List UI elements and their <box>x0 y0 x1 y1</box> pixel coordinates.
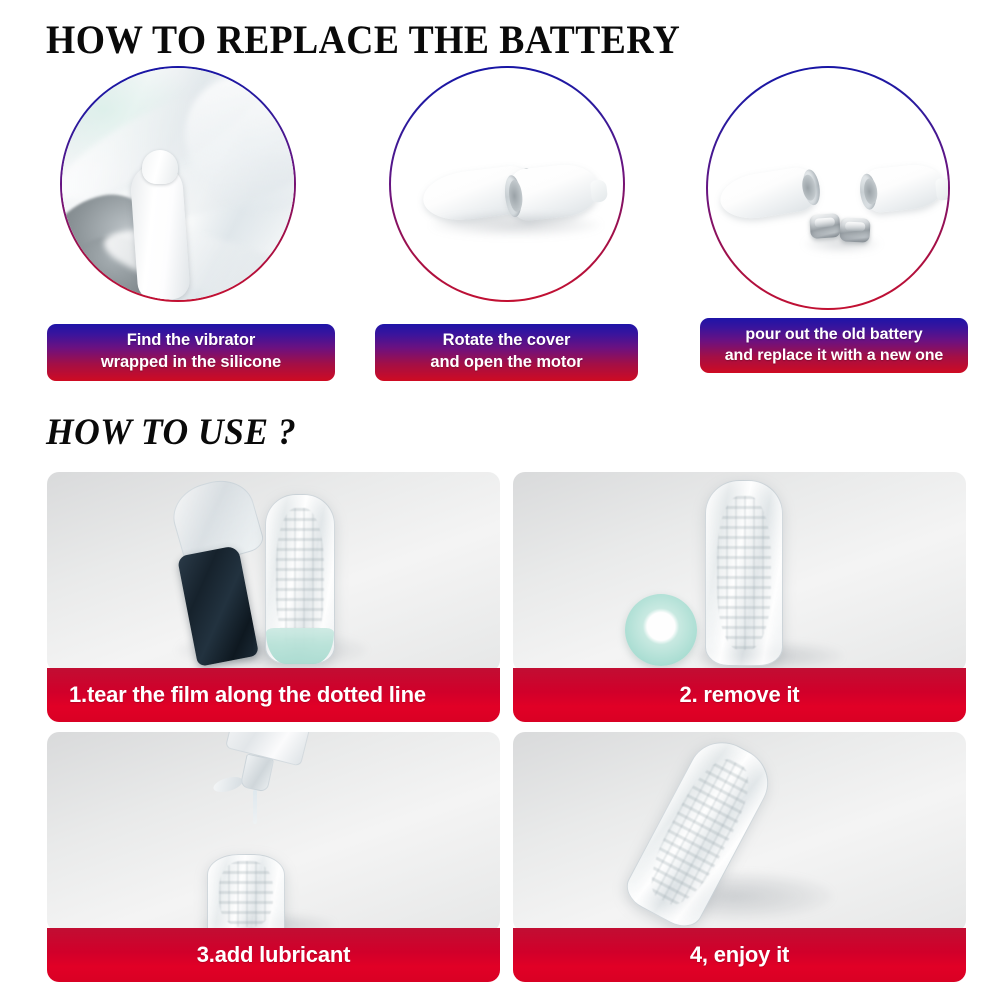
usage-step-3-caption: 3.add lubricant <box>47 928 500 982</box>
usage-step-3: 3.add lubricant <box>47 732 500 982</box>
product-shadow <box>804 236 880 252</box>
usage-section-heading: HOW TO USE ? <box>46 411 296 454</box>
infographic-page: HOW TO REPLACE THE BATTERY Find the vibr… <box>0 0 1000 1000</box>
product-shadow <box>431 214 601 236</box>
battery-step-3: pour out the old battery and replace it … <box>700 66 968 310</box>
clear-cylinder-product <box>207 854 285 932</box>
removed-mint-ring <box>625 594 697 666</box>
usage-step-1-caption: 1.tear the film along the dotted line <box>47 668 500 722</box>
battery-step-2-circle-frame <box>389 66 625 302</box>
battery-step-1-caption: Find the vibrator wrapped in the silicon… <box>47 324 335 381</box>
usage-step-4-photo <box>513 732 966 932</box>
battery-step-1: Find the vibrator wrapped in the silicon… <box>47 66 335 302</box>
usage-step-2-photo <box>513 472 966 672</box>
capsule-end-nub <box>935 177 948 201</box>
cylinder-inner-texture <box>717 496 772 651</box>
battery-step-2: Rotate the cover and open the motor <box>375 66 638 302</box>
clear-cylinder-product <box>705 480 783 666</box>
battery-step-2-caption: Rotate the cover and open the motor <box>375 324 638 381</box>
battery-step-1-circle-frame <box>60 66 296 302</box>
battery-step-2-photo <box>391 68 623 300</box>
usage-step-2: 2. remove it <box>513 472 966 722</box>
vibrator-cap <box>142 150 178 184</box>
usage-steps-grid: 1.tear the film along the dotted line 2.… <box>0 466 1000 996</box>
battery-section-heading: HOW TO REPLACE THE BATTERY <box>46 16 680 63</box>
lubricant-nozzle <box>240 753 274 792</box>
usage-step-4-caption: 4, enjoy it <box>513 928 966 982</box>
battery-step-1-photo <box>62 68 294 300</box>
usage-step-3-photo <box>47 732 500 932</box>
usage-step-1-photo <box>47 472 500 672</box>
battery-step-3-caption: pour out the old battery and replace it … <box>700 318 968 373</box>
usage-step-4: 4, enjoy it <box>513 732 966 982</box>
motor-capsule-right-half <box>860 162 946 214</box>
battery-steps-row: Find the vibrator wrapped in the silicon… <box>0 66 1000 386</box>
cylinder-inner-texture <box>219 861 274 927</box>
usage-step-1: 1.tear the film along the dotted line <box>47 472 500 722</box>
battery-step-3-circle-frame <box>706 66 950 310</box>
mint-base-cap <box>266 628 334 664</box>
lubricant-cap-flap <box>212 774 244 795</box>
battery-step-3-photo <box>708 68 948 308</box>
motor-capsule-left-half <box>717 165 821 224</box>
lubricant-stream <box>253 790 257 824</box>
capsule-end-nub <box>589 179 607 203</box>
usage-step-2-caption: 2. remove it <box>513 668 966 722</box>
